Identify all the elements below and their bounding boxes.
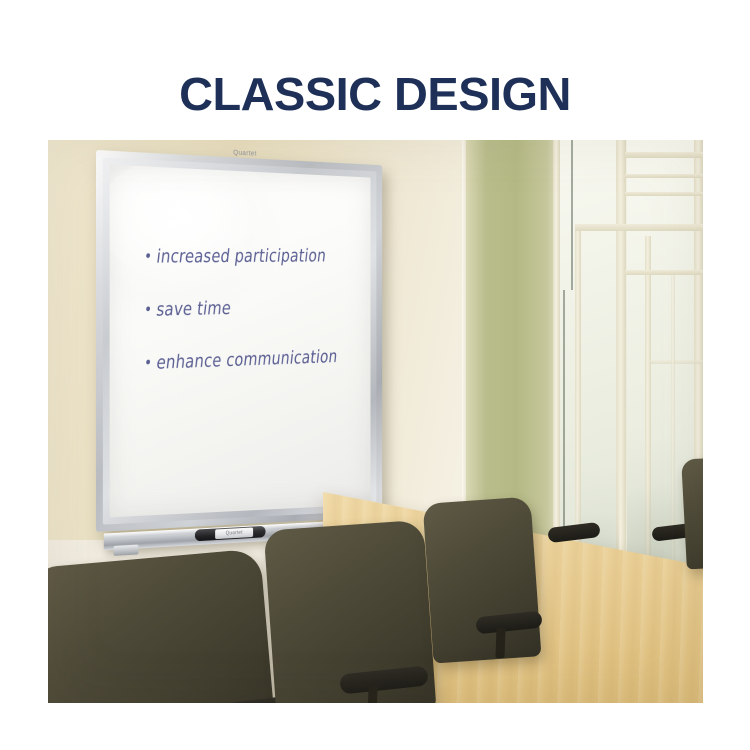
- tray-bracket-left: [114, 545, 139, 556]
- whiteboard-note-item: enhance communication: [145, 344, 370, 373]
- window-top-rail: [625, 152, 703, 158]
- window-reveal-line: [571, 140, 573, 290]
- marker-cap: [195, 529, 215, 542]
- chair-2-post: [367, 686, 377, 703]
- bullet-icon: [146, 253, 150, 258]
- bullet-icon: [146, 306, 150, 311]
- window-louver-1: [625, 174, 703, 178]
- whiteboard-surface[interactable]: increased participation save time enhanc…: [110, 165, 371, 518]
- product-photo: increased participation save time enhanc…: [48, 140, 703, 703]
- whiteboard-note-text: save time: [155, 297, 232, 320]
- window-transom-rail: [575, 224, 703, 231]
- window-louver-2: [625, 192, 703, 196]
- banner: CLASSIC DESIGN: [48, 48, 703, 140]
- whiteboard-note-item: save time: [145, 295, 370, 321]
- whiteboard-notes: increased participation save time enhanc…: [146, 243, 369, 403]
- chair-1[interactable]: [48, 548, 275, 703]
- chair-3[interactable]: [423, 496, 542, 663]
- chair-3-post: [495, 628, 505, 658]
- eraser-brand-label: Quartet: [226, 530, 243, 537]
- page-title: CLASSIC DESIGN: [180, 67, 572, 121]
- whiteboard[interactable]: increased participation save time enhanc…: [96, 150, 382, 532]
- bullet-icon: [146, 360, 150, 365]
- whiteboard-note-text: increased participation: [155, 245, 327, 267]
- whiteboard-brand-label: Quartet: [233, 150, 256, 158]
- whiteboard-frame: increased participation save time enhanc…: [96, 150, 382, 532]
- window-head-rail: [625, 270, 703, 275]
- product-card: CLASSIC DESIGN: [0, 0, 750, 750]
- whiteboard-note-text: enhance communication: [155, 345, 338, 373]
- window-inner-rail-1: [649, 360, 703, 364]
- whiteboard-note-item: increased participation: [145, 245, 370, 268]
